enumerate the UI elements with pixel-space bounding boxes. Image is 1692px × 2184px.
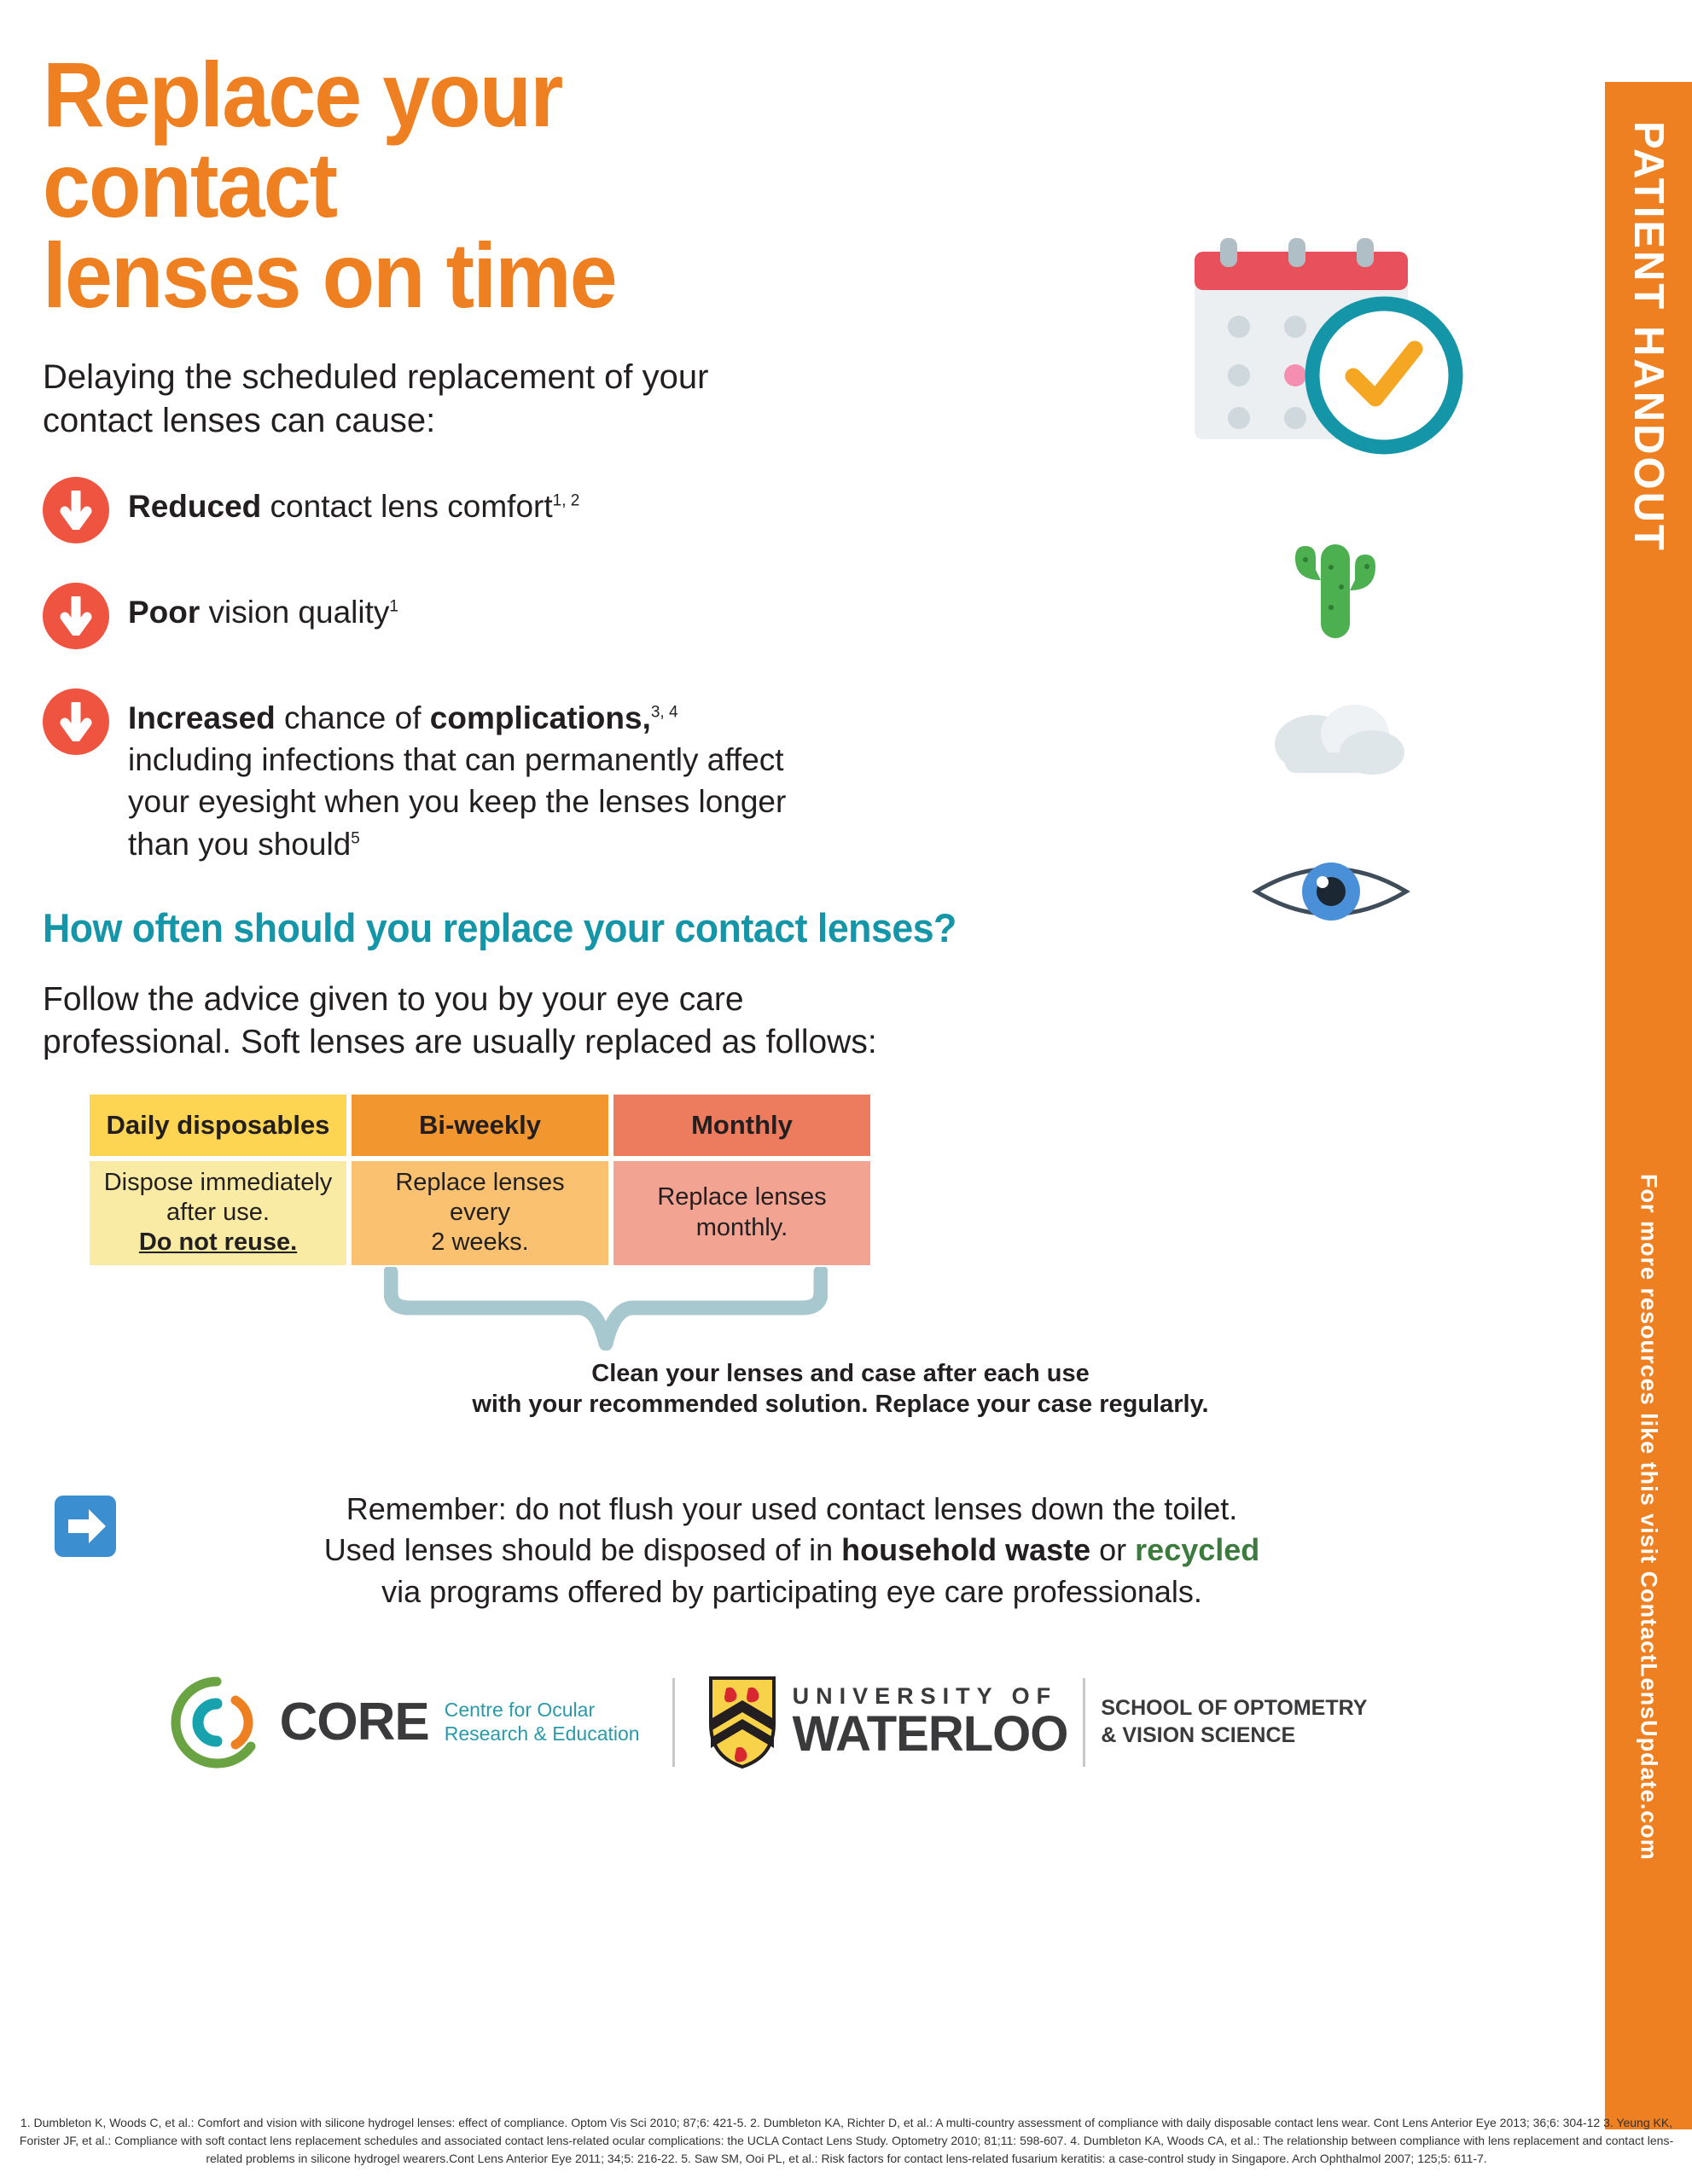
- list-item-bold: Poor: [128, 595, 200, 630]
- intro-text: Delaying the scheduled replacement of yo…: [43, 356, 725, 443]
- list-item-rest: contact lens comfort: [261, 489, 552, 524]
- list-item-rest: vision quality: [200, 595, 389, 630]
- down-arrow-icon: [43, 477, 109, 543]
- waterloo-top: UNIVERSITY OF: [793, 1685, 1068, 1708]
- list-item-superscript: 1: [389, 598, 398, 616]
- table-header-monthly: Monthly: [613, 1095, 870, 1156]
- core-mark-icon: [169, 1675, 265, 1770]
- table-cell-daily: Dispose immediately after use. Do not re…: [90, 1161, 346, 1265]
- list-item: Increased chance of complications,3, 4 i…: [43, 688, 1493, 865]
- brace-caption: Clean your lenses and case after each us…: [397, 1358, 1284, 1420]
- remember-green: recycled: [1135, 1532, 1259, 1567]
- waterloo-subunit-line1: SCHOOL OF OPTOMETRY: [1101, 1695, 1367, 1722]
- list-item: Poor vision quality1: [43, 583, 1493, 649]
- core-logo: CORE Centre for Ocular Research & Educat…: [169, 1675, 640, 1770]
- list-item-superscript-2: 5: [351, 829, 360, 847]
- waterloo-shield-icon: [707, 1675, 777, 1770]
- waterloo-logo: UNIVERSITY OF WATERLOO SCHOOL OF OPTOMET…: [707, 1675, 1368, 1770]
- side-rail-url[interactable]: For more resources like this visit Conta…: [1636, 1174, 1662, 1861]
- waterloo-subunit: SCHOOL OF OPTOMETRY & VISION SCIENCE: [1101, 1695, 1367, 1749]
- brace-caption-line1: Clean your lenses and case after each us…: [591, 1360, 1090, 1387]
- cell-line-2: after use.: [166, 1199, 270, 1226]
- list-item-bold-2: complications,: [430, 700, 651, 735]
- logo-divider: [672, 1678, 675, 1767]
- main-column: Replace your contact lenses on time Dela…: [43, 0, 1493, 1770]
- list-item-bold: Increased: [128, 700, 276, 735]
- table-header-biweekly: Bi-weekly: [352, 1095, 608, 1156]
- cell-line-1: Dispose immediately: [104, 1169, 333, 1196]
- list-item-rest: chance of: [276, 700, 430, 735]
- section-heading: How often should you replace your contac…: [43, 904, 1421, 951]
- list-item-text: Poor vision quality1: [128, 583, 398, 633]
- cell-line-1: Replace lenses every: [395, 1169, 564, 1226]
- list-item-superscript: 1, 2: [553, 492, 580, 510]
- side-rail-title: PATIENT HANDOUT: [1625, 121, 1672, 553]
- section-body: Follow the advice given to you by your e…: [43, 979, 896, 1064]
- waterloo-bottom: WATERLOO: [793, 1710, 1068, 1759]
- arrow-right-icon: [55, 1496, 116, 1557]
- remember-text: Remember: do not flush your used contact…: [125, 1489, 1459, 1613]
- core-wordmark: CORE: [280, 1692, 429, 1752]
- brace-caption-line2: with your recommended solution. Replace …: [472, 1391, 1208, 1418]
- list-item-text: Reduced contact lens comfort1, 2: [128, 477, 579, 527]
- waterloo-divider: [1083, 1678, 1085, 1767]
- remember-line-2a: Used lenses should be disposed of in: [324, 1532, 841, 1567]
- page-title-line1: Replace your contact: [43, 43, 561, 236]
- list-item: Reduced contact lens comfort1, 2: [43, 477, 1493, 543]
- references: 1. Dumbleton K, Woods C, et al.: Comfort…: [19, 2114, 1674, 2168]
- list-item-bold: Reduced: [128, 489, 261, 524]
- handout-page: PATIENT HANDOUT For more resources like …: [0, 0, 1692, 2184]
- down-arrow-icon: [43, 688, 109, 755]
- page-title-line2: lenses on time: [43, 224, 616, 327]
- cell-emphasis: Do not reuse.: [139, 1228, 297, 1256]
- remember-callout: Remember: do not flush your used contact…: [43, 1489, 1493, 1613]
- remember-line-3: via programs offered by participating ey…: [381, 1574, 1202, 1609]
- table-row: Dispose immediately after use. Do not re…: [90, 1161, 870, 1265]
- table-header-row: Daily disposables Bi-weekly Monthly: [90, 1095, 870, 1156]
- waterloo-subunit-line2: & VISION SCIENCE: [1101, 1722, 1367, 1749]
- remember-line-2b: or: [1090, 1532, 1135, 1567]
- side-rail: PATIENT HANDOUT For more resources like …: [1605, 82, 1692, 2129]
- down-arrow-icon: [43, 583, 109, 649]
- remember-bold: household waste: [841, 1532, 1090, 1567]
- consequences-list: Reduced contact lens comfort1, 2 Poor vi…: [43, 477, 1493, 865]
- replacement-schedule-table: Daily disposables Bi-weekly Monthly Disp…: [90, 1095, 870, 1265]
- waterloo-wordmark: UNIVERSITY OF WATERLOO: [793, 1685, 1068, 1759]
- table-header-daily: Daily disposables: [90, 1095, 346, 1156]
- core-tagline-line1: Centre for Ocular: [445, 1699, 640, 1722]
- list-item-superscript: 3, 4: [651, 704, 678, 722]
- table-cell-monthly: Replace lenses monthly.: [613, 1161, 870, 1265]
- cell-line-1: Replace lenses monthly.: [657, 1183, 826, 1240]
- table-cell-biweekly: Replace lenses every 2 weeks.: [352, 1161, 608, 1265]
- core-tagline: Centre for Ocular Research & Education: [445, 1699, 640, 1745]
- list-item-tail: including infections that can permanentl…: [128, 742, 786, 861]
- remember-line-1: Remember: do not flush your used contact…: [346, 1491, 1238, 1526]
- brace-graphic: [384, 1267, 1493, 1355]
- page-title: Replace your contact lenses on time: [43, 49, 852, 320]
- cell-line-2: 2 weeks.: [431, 1228, 528, 1256]
- core-tagline-line2: Research & Education: [445, 1722, 640, 1746]
- footer-logos: CORE Centre for Ocular Research & Educat…: [43, 1675, 1493, 1770]
- list-item-text: Increased chance of complications,3, 4 i…: [128, 688, 811, 865]
